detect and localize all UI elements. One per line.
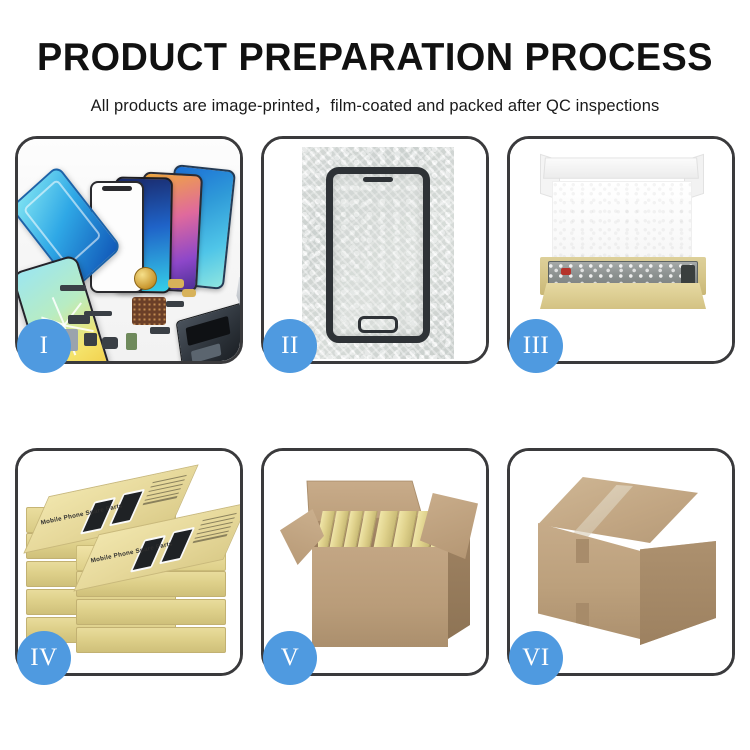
page-subtitle: All products are image-printed，film-coat…	[0, 77, 750, 116]
step-badge-2: II	[263, 319, 317, 373]
bubble-wrap-sheet-icon	[302, 147, 454, 359]
step-panel-6: VI	[507, 448, 735, 676]
step-badge-5: V	[263, 631, 317, 685]
step-panel-3: III	[507, 136, 735, 364]
logic-board-icon	[176, 301, 240, 361]
page-title: PRODUCT PREPARATION PROCESS	[11, 0, 739, 77]
foam-padding-icon	[552, 181, 692, 259]
steps-grid: I II	[15, 136, 735, 676]
step-badge-3: III	[509, 319, 563, 373]
step-panel-2: II	[261, 136, 489, 364]
carton-front-face-icon	[538, 523, 640, 639]
step-panel-4: Mobile Phone Spare Parts Mobile Phone	[15, 448, 243, 676]
spare-parts-group	[78, 271, 240, 361]
carton-side-face-icon	[640, 541, 716, 645]
carton-front-face-icon	[312, 547, 448, 647]
step-panel-1: I	[15, 136, 243, 364]
kraft-tray-front-icon	[540, 283, 706, 309]
camera-lens-icon	[134, 267, 157, 290]
step-badge-1: I	[17, 319, 71, 373]
box-lid-icon	[543, 157, 699, 178]
step-badge-4: IV	[17, 631, 71, 685]
chip-array-icon	[132, 297, 166, 325]
label-sticker-icon	[561, 268, 571, 275]
product-preparation-infographic: PRODUCT PREPARATION PROCESS All products…	[0, 0, 750, 750]
step-panel-5: V	[261, 448, 489, 676]
header: PRODUCT PREPARATION PROCESS All products…	[0, 0, 750, 116]
step-badge-6: VI	[509, 631, 563, 685]
phone-glass-panel-icon	[326, 167, 430, 343]
